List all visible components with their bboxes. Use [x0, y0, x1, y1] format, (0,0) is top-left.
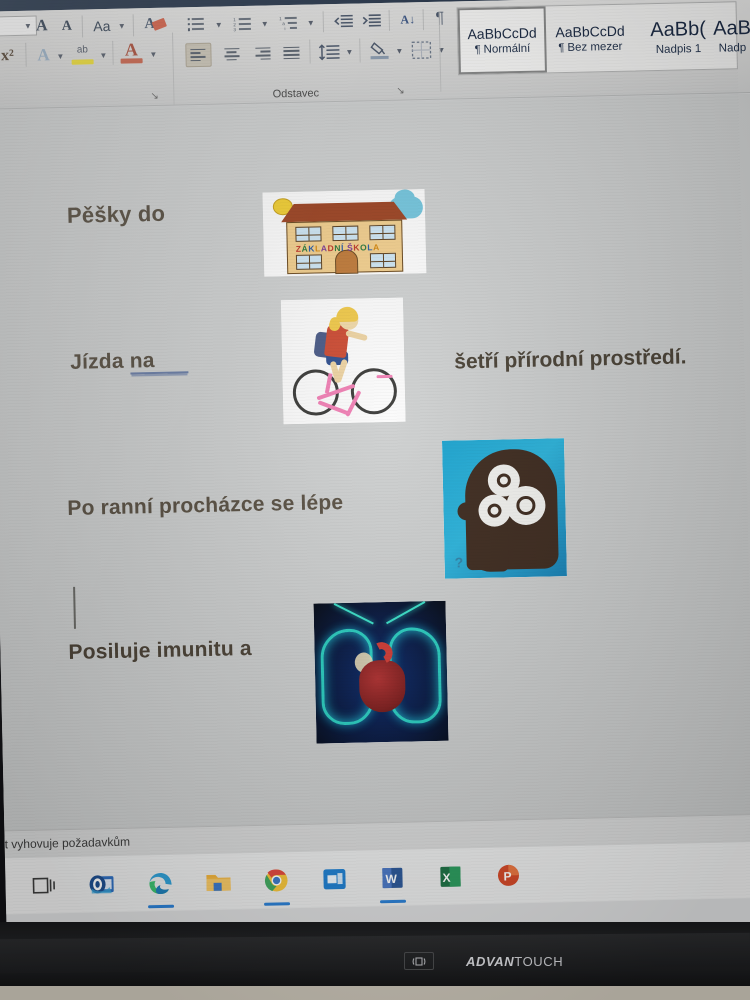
- grow-font-button[interactable]: A: [31, 16, 53, 36]
- bezel-sensor-icon: [404, 952, 434, 970]
- chevron-down-icon[interactable]: ▼: [395, 47, 403, 56]
- chevron-down-icon[interactable]: ▼: [261, 19, 269, 28]
- change-case-button[interactable]: Aa: [89, 16, 115, 36]
- nose-shape: [457, 502, 473, 520]
- heart-lungs-image[interactable]: [314, 601, 449, 744]
- ribbon: ▼ A A Aa ▼ A x² A ▼ ab ▼ A ▼: [0, 0, 750, 110]
- style-bez-mezer[interactable]: AaBbCcDd ¶ Bez mezer: [546, 4, 635, 72]
- ribbon-group-styles: AaBbCcDd ¶ Normální AaBbCcDd ¶ Bez mezer: [448, 0, 740, 100]
- style-preview: AaBbCcDd: [555, 23, 625, 41]
- chevron-down-icon[interactable]: ▼: [307, 18, 315, 27]
- style-nadpis-2[interactable]: AaB Nadp: [711, 2, 750, 69]
- screen-content: Nápověda Acrobat Řekněte mi, co chcet ▼ …: [0, 0, 750, 940]
- style-preview: AaBb(: [650, 17, 706, 41]
- line-spacing-button[interactable]: [317, 41, 341, 64]
- window: [295, 226, 321, 242]
- doc-line-2-prefix: Jízda: [70, 350, 130, 374]
- styles-gallery: AaBbCcDd ¶ Normální AaBbCcDd ¶ Bez mezer: [457, 1, 738, 75]
- pilcrow-icon: ¶: [475, 44, 481, 56]
- style-name: Normální: [483, 43, 530, 56]
- word-icon[interactable]: W: [377, 863, 408, 894]
- bicycle-handlebar: [377, 374, 393, 378]
- window: [369, 225, 395, 241]
- style-name: Nadpis 1: [656, 43, 702, 56]
- divider: [323, 11, 324, 32]
- style-name: Bez mezer: [567, 41, 622, 54]
- brand-light: TOUCH: [514, 954, 563, 969]
- decrease-indent-button[interactable]: [333, 12, 355, 30]
- text-cursor: [73, 587, 76, 629]
- highlight-color-swatch: [72, 59, 94, 64]
- school-clipart[interactable]: ZÁKLADNÍ ŠKOLA: [263, 189, 427, 277]
- doc-line-2-suffix[interactable]: šetří přírodní prostředí.: [454, 345, 687, 374]
- bezel-strip: [0, 933, 750, 974]
- doc-line-1[interactable]: Pěšky do: [67, 201, 166, 229]
- doc-line-3[interactable]: Po ranní procházce se lépe: [67, 491, 343, 521]
- font-color-swatch: [121, 58, 143, 63]
- outlook-icon[interactable]: [87, 869, 118, 900]
- borders-button[interactable]: [409, 39, 432, 60]
- style-name: Nadp: [719, 42, 747, 55]
- excel-icon[interactable]: X: [435, 861, 466, 892]
- chevron-down-icon[interactable]: ▼: [56, 52, 64, 61]
- divider: [133, 14, 134, 36]
- superscript-button[interactable]: x²: [0, 46, 20, 67]
- brain-gears-image[interactable]: ?: [442, 438, 567, 579]
- svg-text:X: X: [442, 871, 450, 885]
- edge-icon[interactable]: [145, 868, 176, 899]
- microsoft-store-icon[interactable]: [319, 864, 350, 895]
- divider: [389, 10, 390, 31]
- text-effects-button[interactable]: A: [33, 44, 53, 66]
- task-view-icon[interactable]: [29, 870, 60, 901]
- align-right-button[interactable]: [249, 42, 273, 65]
- chevron-down-icon[interactable]: ▼: [345, 48, 353, 57]
- align-center-button[interactable]: [219, 43, 243, 66]
- paragraph-group-label: Odstavec: [178, 85, 413, 102]
- divider: [112, 41, 114, 65]
- door-shape: [335, 250, 359, 274]
- style-nadpis-1[interactable]: AaBb( Nadpis 1: [634, 3, 723, 71]
- ribbon-group-font: ▼ A A Aa ▼ A x² A ▼ ab ▼ A ▼: [0, 8, 177, 110]
- file-explorer-icon[interactable]: [203, 866, 234, 897]
- brand-bold: ADVAN: [466, 954, 514, 969]
- background-wall: [0, 986, 750, 1000]
- accessibility-status-text[interactable]: t vyhovuje požadavkům: [5, 835, 131, 852]
- divider: [309, 40, 311, 64]
- question-mark-glyph: ?: [454, 554, 463, 570]
- sort-button[interactable]: A↓: [397, 9, 419, 29]
- doc-line-4[interactable]: Posiluje imunitu a: [68, 637, 252, 665]
- shrink-font-button[interactable]: A: [57, 17, 77, 36]
- document-page[interactable]: Pěšky do ZÁKLADNÍ ŠKOLA: [0, 93, 750, 830]
- monitor-brand-label: ADVANTOUCH: [466, 954, 563, 969]
- divider: [359, 38, 361, 62]
- chevron-down-icon[interactable]: ▼: [99, 51, 107, 60]
- chevron-down-icon[interactable]: ▼: [149, 50, 157, 59]
- font-dialog-launcher[interactable]: ↘: [150, 91, 161, 102]
- jaw-shape: [468, 517, 509, 572]
- svg-text:P: P: [503, 869, 511, 883]
- divider: [423, 9, 424, 30]
- doc-line-2[interactable]: Jízda na: [70, 348, 189, 375]
- fill-in-blank[interactable]: na: [129, 348, 188, 374]
- style-normalni[interactable]: AaBbCcDd ¶ Normální: [458, 6, 547, 74]
- style-preview: AaBbCcDd: [467, 25, 537, 43]
- monitor-photo: Nápověda Acrobat Řekněte mi, co chcet ▼ …: [0, 0, 750, 1000]
- school-walls: ZÁKLADNÍ ŠKOLA: [286, 220, 403, 275]
- numbering-button[interactable]: 1 2 3: [231, 14, 255, 33]
- pilcrow-icon: ¶: [558, 42, 564, 54]
- justify-button[interactable]: [279, 42, 303, 65]
- multilevel-list-button[interactable]: 1 a i: [277, 13, 301, 32]
- window: [370, 253, 396, 269]
- heart-shape: [359, 660, 406, 713]
- bullets-button[interactable]: [185, 15, 209, 34]
- paragraph-dialog-launcher[interactable]: ↘: [396, 85, 407, 96]
- divider: [82, 16, 83, 38]
- chevron-down-icon[interactable]: ▼: [215, 20, 223, 29]
- svg-text:W: W: [385, 872, 397, 886]
- window: [296, 254, 322, 270]
- text-highlight-button[interactable]: ab: [71, 41, 93, 58]
- window: [332, 226, 358, 242]
- font-color-button[interactable]: A: [120, 39, 142, 59]
- chrome-icon[interactable]: [261, 865, 292, 896]
- increase-indent-button[interactable]: [361, 11, 383, 29]
- style-preview: AaB: [713, 16, 750, 40]
- align-left-button[interactable]: [185, 43, 212, 68]
- document-scroll-area[interactable]: Pěšky do ZÁKLADNÍ ŠKOLA: [0, 93, 750, 830]
- shading-button[interactable]: [367, 39, 391, 62]
- divider: [25, 43, 27, 67]
- powerpoint-icon[interactable]: P: [493, 860, 524, 891]
- chevron-down-icon[interactable]: ▼: [118, 22, 126, 31]
- ribbon-group-paragraph: ▼ 1 2 3 ▼ 1 a i: [176, 2, 413, 105]
- cyclist-clipart[interactable]: [281, 298, 406, 425]
